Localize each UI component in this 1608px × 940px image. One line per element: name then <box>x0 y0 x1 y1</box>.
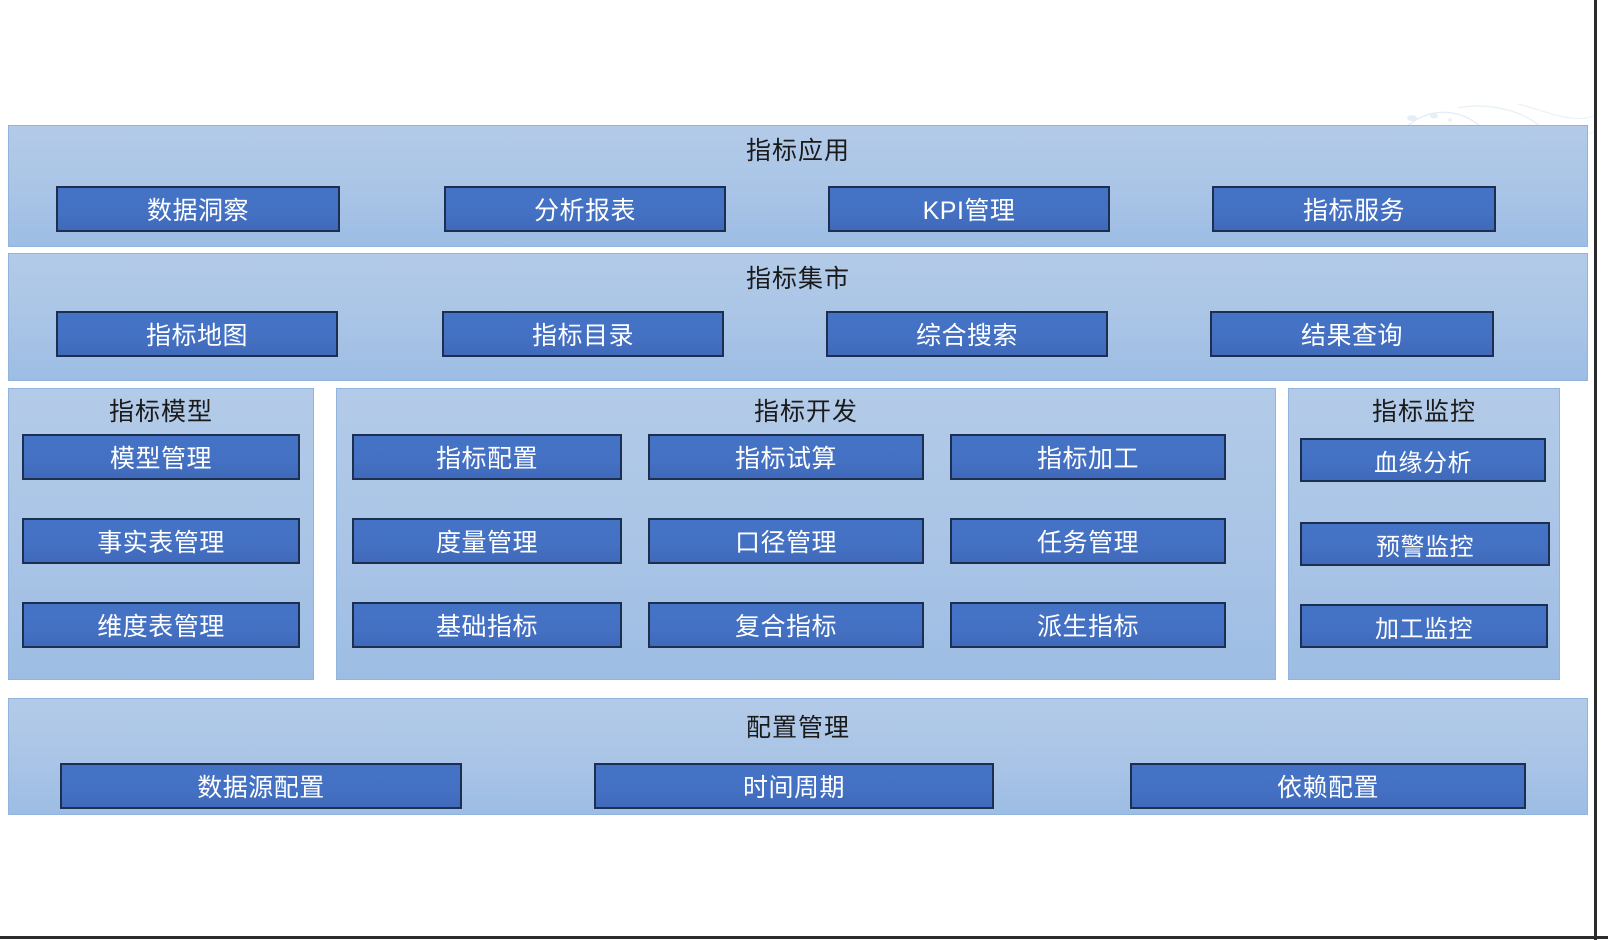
chip-caliber-management[interactable]: 口径管理 <box>648 518 924 564</box>
section-title-app: 指标应用 <box>9 136 1587 166</box>
chip-alert-monitor[interactable]: 预警监控 <box>1300 522 1550 566</box>
slide-frame-right-edge <box>1594 0 1597 940</box>
chip-fact-table-management[interactable]: 事实表管理 <box>22 518 300 564</box>
chip-basic-indicator[interactable]: 基础指标 <box>352 602 622 648</box>
chip-result-query[interactable]: 结果查询 <box>1210 311 1494 357</box>
chip-processing-monitor[interactable]: 加工监控 <box>1300 604 1548 648</box>
chip-indicator-service[interactable]: 指标服务 <box>1212 186 1496 232</box>
chip-comprehensive-search[interactable]: 综合搜索 <box>826 311 1108 357</box>
section-title-monitor: 指标监控 <box>1289 397 1559 427</box>
slide-frame-bottom-edge <box>0 936 1608 939</box>
chip-lineage-analysis[interactable]: 血缘分析 <box>1300 438 1546 482</box>
chip-composite-indicator[interactable]: 复合指标 <box>648 602 924 648</box>
chip-derived-indicator[interactable]: 派生指标 <box>950 602 1226 648</box>
chip-indicator-trial-calc[interactable]: 指标试算 <box>648 434 924 480</box>
chip-indicator-map[interactable]: 指标地图 <box>56 311 338 357</box>
chip-indicator-catalog[interactable]: 指标目录 <box>442 311 724 357</box>
chip-data-insight[interactable]: 数据洞察 <box>56 186 340 232</box>
chip-dependency-config[interactable]: 依赖配置 <box>1130 763 1526 809</box>
chip-measure-management[interactable]: 度量管理 <box>352 518 622 564</box>
chip-model-management[interactable]: 模型管理 <box>22 434 300 480</box>
chip-datasource-config[interactable]: 数据源配置 <box>60 763 462 809</box>
architecture-diagram: 指标应用 数据洞察 分析报表 KPI管理 指标服务 指标集市 指标地图 指标目录… <box>0 0 1608 940</box>
section-title-develop: 指标开发 <box>337 397 1275 427</box>
chip-time-period[interactable]: 时间周期 <box>594 763 994 809</box>
chip-kpi-management[interactable]: KPI管理 <box>828 186 1110 232</box>
chip-task-management[interactable]: 任务管理 <box>950 518 1226 564</box>
chip-indicator-config[interactable]: 指标配置 <box>352 434 622 480</box>
chip-indicator-processing[interactable]: 指标加工 <box>950 434 1226 480</box>
chip-analysis-report[interactable]: 分析报表 <box>444 186 726 232</box>
section-title-model: 指标模型 <box>9 397 313 427</box>
chip-dimension-table-management[interactable]: 维度表管理 <box>22 602 300 648</box>
section-title-config: 配置管理 <box>9 713 1587 743</box>
section-title-market: 指标集市 <box>9 264 1587 294</box>
